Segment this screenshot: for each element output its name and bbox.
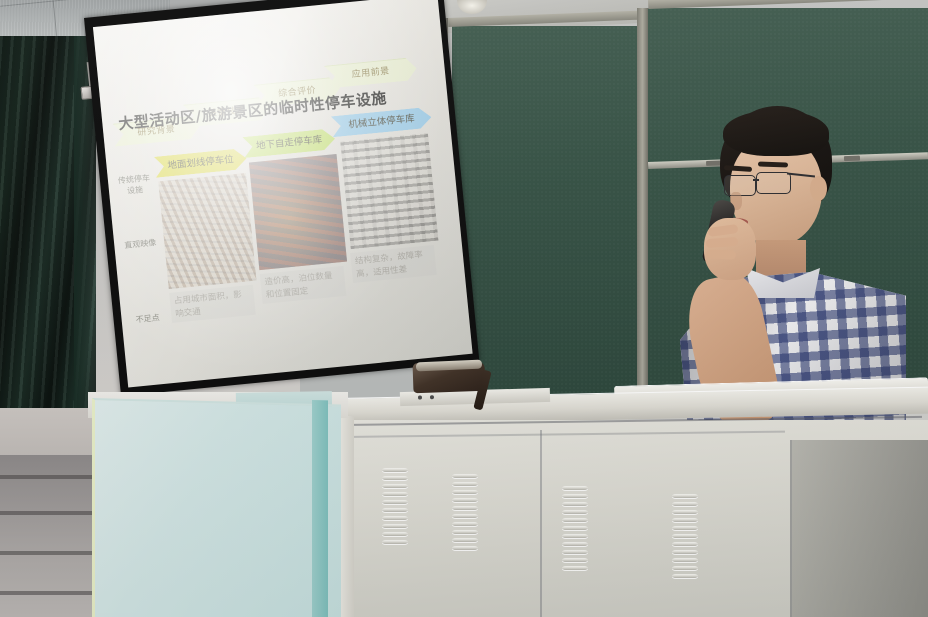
slide-photo-2 <box>340 133 438 249</box>
cabinet-vent-2 <box>562 486 588 578</box>
drawback-cell-0: 占用城市面积，影响交通 <box>169 285 256 323</box>
column-header-1: 地下自走停车库 <box>242 128 336 158</box>
glasses-lens-right <box>756 172 791 194</box>
cabinet-vent-1 <box>452 474 478 566</box>
cabinet-center-divider <box>540 430 542 617</box>
presentation-slide: 研究背景 关键技术 综合评价 应用前景 大型活动区/旅游景区的临时性停车设施 地… <box>93 0 473 387</box>
cabinet-vent-0 <box>382 468 408 560</box>
slide-nav-item-3[interactable]: 应用前景 <box>324 57 418 89</box>
leaning-blue-panel[interactable] <box>92 398 341 617</box>
chalkboard-left-panel <box>452 26 638 404</box>
drawback-cell-1: 造价高，泊位数量和位置固定 <box>260 266 347 304</box>
hand <box>704 218 756 280</box>
lecture-hall-photo: 研究背景 关键技术 综合评价 应用前景 大型活动区/旅游景区的临时性停车设施 地… <box>0 0 928 617</box>
projection-screen[interactable]: 研究背景 关键技术 综合评价 应用前景 大型活动区/旅游景区的临时性停车设施 地… <box>84 0 479 396</box>
projection-screen-surface: 研究背景 关键技术 综合评价 应用前景 大型活动区/旅游景区的临时性停车设施 地… <box>93 0 473 387</box>
cabinet-side-shadow <box>790 440 928 617</box>
cabinet-right-edge <box>790 440 792 617</box>
drawback-cell-2: 结构复杂，故障率高，适用性差 <box>350 245 437 283</box>
glasses-bridge <box>753 179 759 181</box>
leaning-panel-side-edge <box>312 400 328 617</box>
slide-photo-1 <box>249 154 347 270</box>
eyebrow-right <box>758 161 788 167</box>
slide-photo-0 <box>158 173 256 289</box>
row-label-0: 传统停车设施 <box>114 172 156 198</box>
cabinet-vent-3 <box>672 494 698 586</box>
row-label-1: 直观映像 <box>120 237 161 252</box>
hair-fringe <box>723 110 829 156</box>
row-label-2: 不足点 <box>127 311 168 326</box>
ear <box>810 176 827 201</box>
chalkboard-frame-divider-right <box>637 8 648 408</box>
